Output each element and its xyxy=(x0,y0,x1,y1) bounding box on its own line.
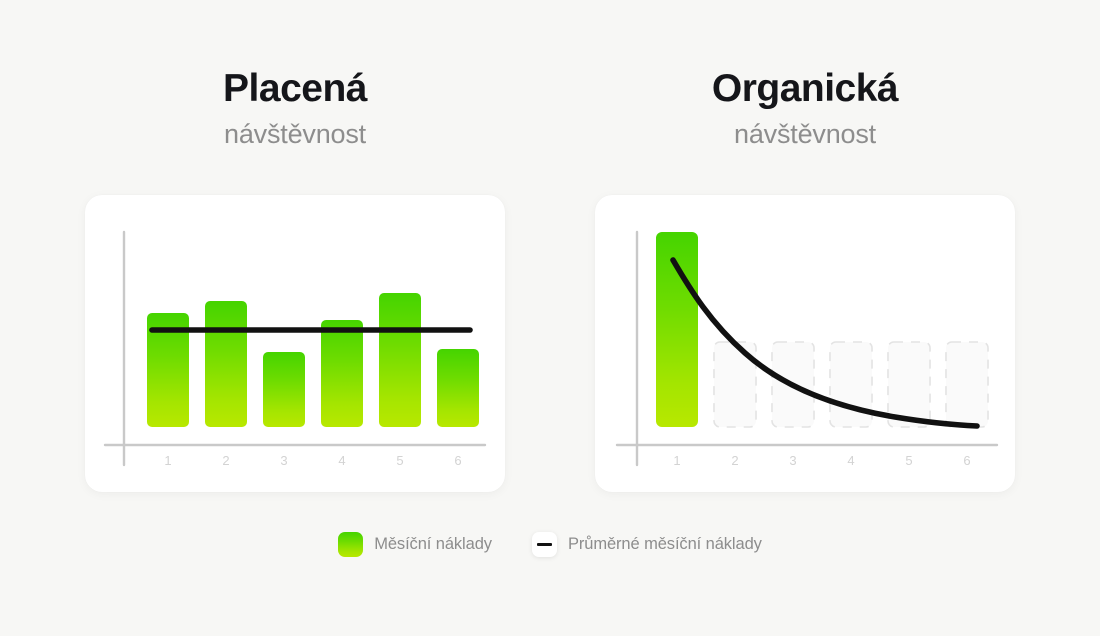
bar-month-5 xyxy=(379,293,421,427)
tick-label-2: 2 xyxy=(222,453,229,468)
paid-traffic-chart-card: 1 2 3 4 5 6 xyxy=(85,195,505,492)
paid-traffic-svg: 1 2 3 4 5 6 xyxy=(85,195,505,492)
paid-bars xyxy=(147,293,479,427)
tick-label-6: 6 xyxy=(454,453,461,468)
placeholder-bars xyxy=(714,342,988,427)
legend-item-average-cost: Průměrné měsíční náklady xyxy=(532,532,762,557)
paid-traffic-subtitle: návštěvnost xyxy=(85,120,505,150)
tick-label-2: 2 xyxy=(731,453,738,468)
paid-traffic-plot: 1 2 3 4 5 6 xyxy=(85,195,505,492)
placeholder-bar-month-4 xyxy=(830,342,872,427)
tick-label-1: 1 xyxy=(673,453,680,468)
legend-label-monthly-cost: Měsíční náklady xyxy=(374,535,492,554)
line-swatch-icon xyxy=(532,532,557,557)
legend-label-average-cost: Průměrné měsíční náklady xyxy=(568,535,762,554)
tick-label-6: 6 xyxy=(963,453,970,468)
tick-label-5: 5 xyxy=(396,453,403,468)
organic-traffic-svg: 1 2 3 4 5 6 xyxy=(595,195,1015,492)
bar-month-2 xyxy=(205,301,247,427)
tick-label-3: 3 xyxy=(789,453,796,468)
tick-label-3: 3 xyxy=(280,453,287,468)
organic-x-tick-labels: 1 2 3 4 5 6 xyxy=(673,453,970,468)
tick-label-1: 1 xyxy=(164,453,171,468)
paid-traffic-title: Placená xyxy=(85,68,505,110)
paid-x-tick-labels: 1 2 3 4 5 6 xyxy=(164,453,461,468)
bar-month-6 xyxy=(437,349,479,427)
tick-label-4: 4 xyxy=(338,453,345,468)
organic-traffic-plot: 1 2 3 4 5 6 xyxy=(595,195,1015,492)
paid-traffic-heading: Placená návštěvnost xyxy=(85,68,505,150)
placeholder-bar-month-6 xyxy=(946,342,988,427)
tick-label-4: 4 xyxy=(847,453,854,468)
organic-traffic-subtitle: návštěvnost xyxy=(595,120,1015,150)
bar-month-4 xyxy=(321,320,363,427)
infographic-root: Placená návštěvnost Organická návštěvnos… xyxy=(0,0,1100,636)
tick-label-5: 5 xyxy=(905,453,912,468)
bar-swatch-icon xyxy=(338,532,363,557)
bar-month-3 xyxy=(263,352,305,427)
legend-item-monthly-cost: Měsíční náklady xyxy=(338,532,492,557)
organic-traffic-title: Organická xyxy=(595,68,1015,110)
organic-traffic-heading: Organická návštěvnost xyxy=(595,68,1015,150)
bar-month-1 xyxy=(656,232,698,427)
organic-traffic-chart-card: 1 2 3 4 5 6 xyxy=(595,195,1015,492)
chart-legend: Měsíční náklady Průměrné měsíční náklady xyxy=(0,532,1100,557)
